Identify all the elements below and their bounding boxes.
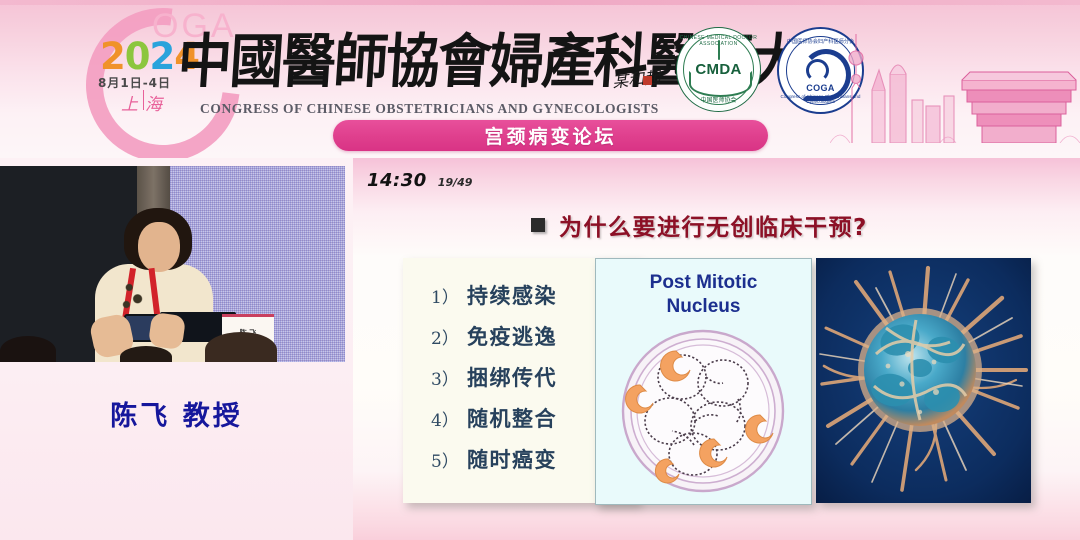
list-item-label: 捆绑传代 (467, 362, 557, 392)
cmda-chinese-text: 中国医师协会 (677, 95, 760, 104)
subtitle-english: CONGRESS OF CHINESE OBSTETRICIANS AND GY… (200, 101, 659, 117)
list-item-number: 4） (431, 406, 457, 431)
speaker-video-feed[interactable]: 陈 飞 (0, 166, 345, 362)
slide-title: 为什么要进行无创临床干预? (531, 208, 868, 242)
list-item-number: 1） (431, 283, 457, 308)
logo-year-digit-1: 2 (100, 35, 125, 78)
slide-page-indicator: 19/49 (438, 176, 473, 189)
slide-title-text: 为什么要进行无创临床干预? (559, 208, 868, 242)
caduceus-icon (718, 40, 720, 60)
list-item-label: 随机整合 (467, 403, 557, 433)
logo-year-digit-3: 2 (150, 35, 175, 78)
list-item-number: 3） (431, 365, 457, 390)
list-item-number: 5） (431, 447, 457, 472)
jacket-embroidery (118, 276, 146, 314)
cmda-badge: CHINESE MEDICAL DOCTOR ASSOCIATION CMDA … (676, 27, 761, 112)
list-item-label: 免疫逃逸 (467, 321, 557, 351)
calligraphy-title: 中國醫師協會婦產科醫師大會 (175, 21, 650, 101)
speaker-panel: 陈 飞 陈飞 教授 (0, 158, 353, 540)
cancer-cell-micrograph (816, 258, 1031, 503)
calligraphy-signature: 某和起 (611, 64, 661, 93)
audience-head-3 (205, 332, 277, 362)
list-item-number: 2） (431, 324, 457, 349)
post-mitotic-nucleus-figure: Post Mitotic Nucleus (595, 258, 812, 505)
slide-meta: 14:30 19/49 (367, 170, 472, 191)
speaker-hand-right (148, 312, 186, 350)
nucleus-figure-title: Post Mitotic Nucleus (596, 271, 811, 319)
audience-head-1 (0, 336, 56, 362)
square-bullet-icon (531, 218, 545, 232)
forum-title-text: 宫颈病变论坛 (484, 122, 616, 149)
header-top-line (0, 0, 1080, 5)
laurel-wreath-icon (689, 71, 752, 97)
shanghai-skyline-icon (830, 18, 1080, 143)
cancer-cell-image (816, 258, 1031, 503)
slide-timestamp: 14:30 (367, 170, 427, 191)
nucleus-title-line-2: Nucleus (596, 295, 811, 319)
red-seal-icon (643, 76, 652, 85)
nucleus-diagram-icon (610, 329, 796, 494)
cmda-acronym: CMDA (677, 61, 760, 78)
logo-city: 上海 (121, 90, 169, 115)
speaker-face (138, 222, 180, 272)
list-item-label: 持续感染 (467, 280, 557, 310)
presentation-slide: 14:30 19/49 为什么要进行无创临床干预? 1） 持续感染 2） 免疫逃… (353, 158, 1080, 540)
forum-title-pill: 宫颈病变论坛 (333, 120, 768, 151)
audience-head-2 (120, 346, 172, 362)
logo-date: 8月1日-4日 (98, 74, 171, 91)
conference-header: OGA 2024 8月1日-4日 上海 中國醫師協會婦產科醫師大會 某和起 CO… (0, 0, 1080, 158)
speaker-name: 陈飞 教授 (0, 394, 353, 433)
nucleus-title-line-1: Post Mitotic (596, 271, 811, 295)
cmda-arc-text: CHINESE MEDICAL DOCTOR ASSOCIATION (677, 35, 760, 47)
infant-head-icon (806, 59, 829, 82)
list-item-label: 随时癌变 (467, 444, 557, 474)
logo-year-digit-2: 0 (125, 35, 150, 78)
broadcast-screen: OGA 2024 8月1日-4日 上海 中國醫師協會婦產科醫師大會 某和起 CO… (0, 0, 1080, 540)
logo-city-divider (143, 90, 144, 110)
